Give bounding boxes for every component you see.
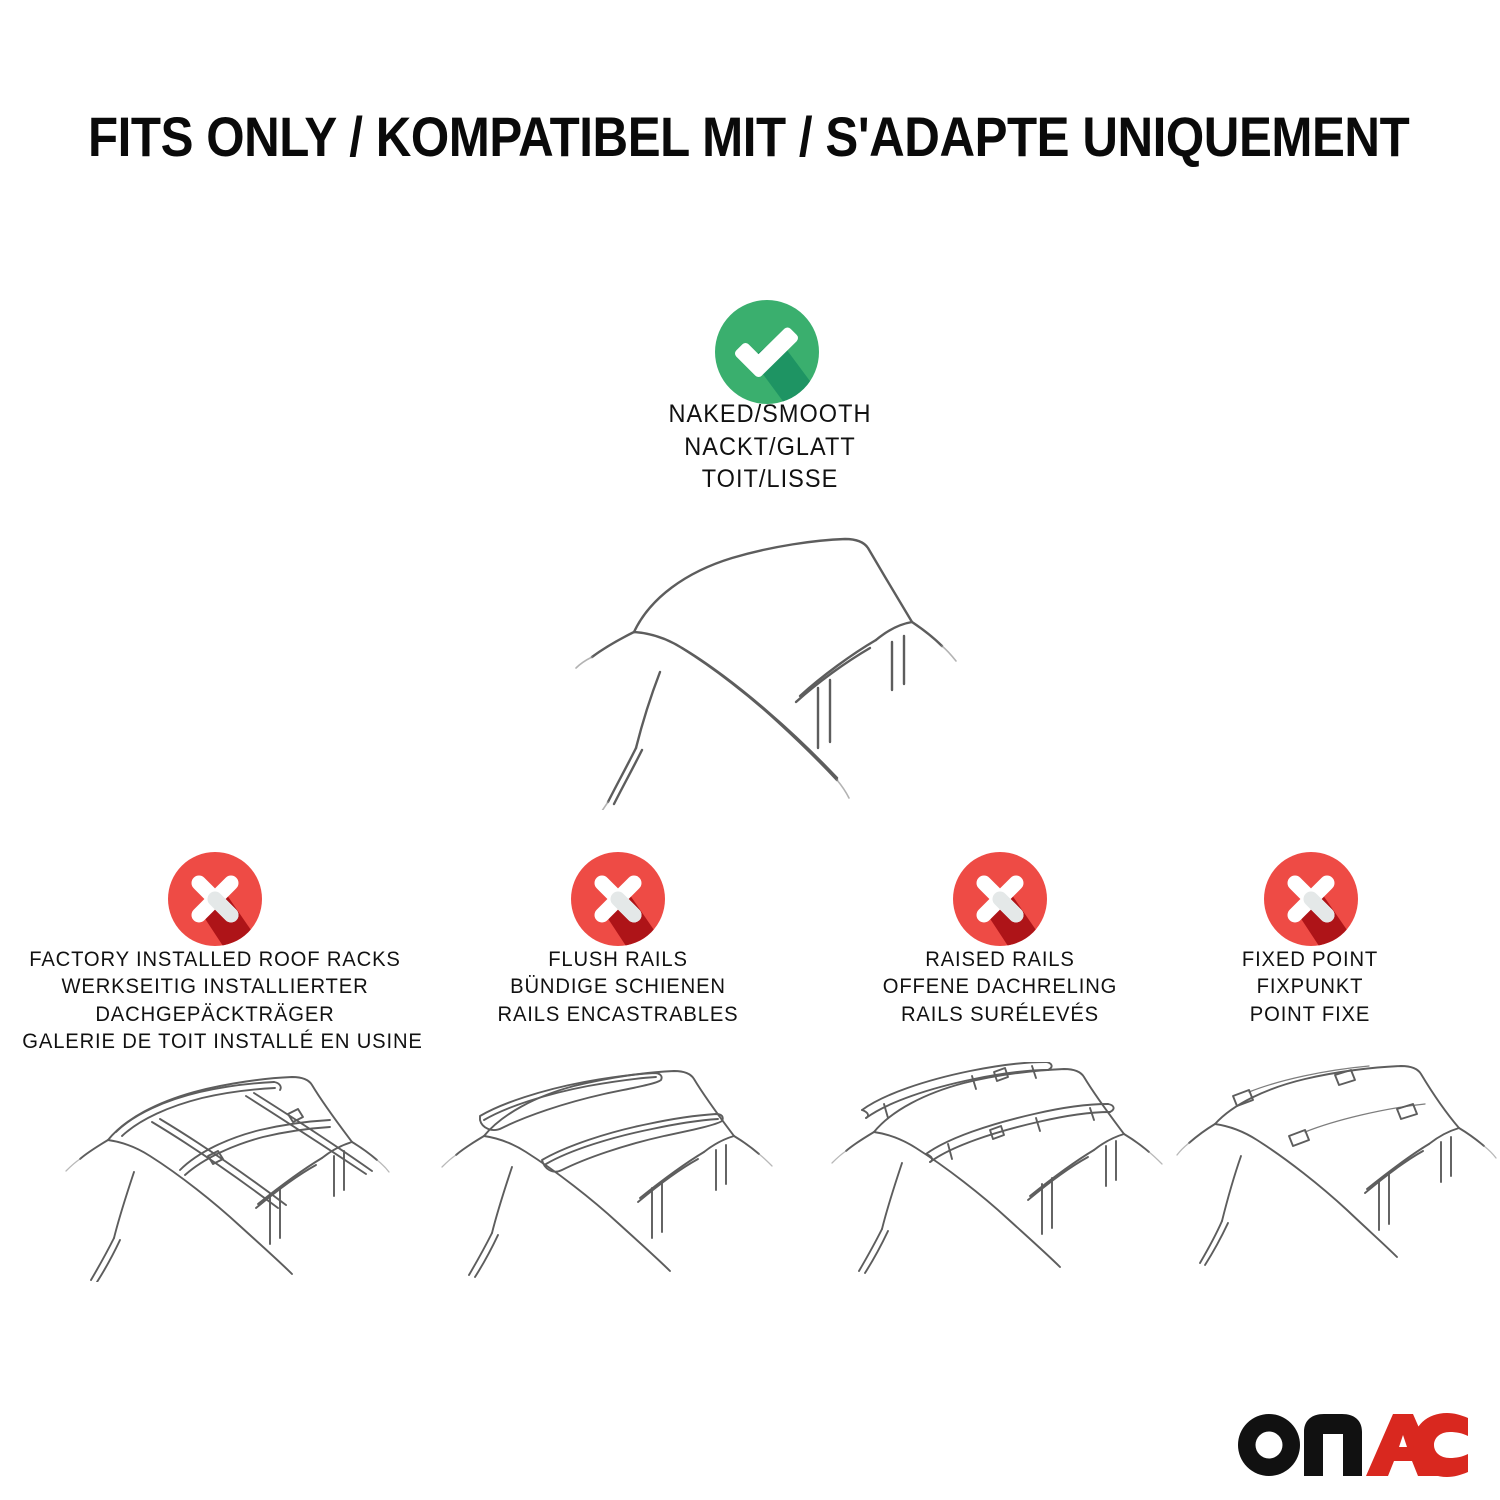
x-circle-icon xyxy=(1264,852,1358,946)
caption-line: FIXPUNKT xyxy=(1174,973,1447,1000)
omac-logo xyxy=(1238,1412,1468,1478)
logo-letter-m xyxy=(1304,1414,1362,1476)
x-circle-icon xyxy=(168,852,262,946)
caption-line: FACTORY INSTALLED ROOF RACKS xyxy=(22,946,407,973)
caption-line: TOIT/LISSE xyxy=(582,463,958,496)
car-roof-naked-smooth-illustration xyxy=(500,520,1020,810)
caption-line: RAILS ENCASTRABLES xyxy=(458,1001,778,1028)
caption-line: POINT FIXE xyxy=(1174,1001,1447,1028)
x-circle-icon xyxy=(571,852,665,946)
caption-line: FIXED POINT xyxy=(1174,946,1447,973)
caption-line: DACHGEPÄCKTRÄGER xyxy=(22,1001,407,1028)
car-roof-flush-rails-illustration xyxy=(432,1062,822,1282)
incompatible-caption-flush-rails: FLUSH RAILS BÜNDIGE SCHIENEN RAILS ENCAS… xyxy=(458,946,778,1028)
check-circle-icon xyxy=(715,300,827,404)
car-roof-factory-roof-racks-illustration xyxy=(30,1062,430,1282)
logo-letter-o xyxy=(1238,1414,1300,1476)
page-title: FITS ONLY / KOMPATIBEL MIT / S'ADAPTE UN… xyxy=(88,108,1258,167)
caption-line: RAILS SURÉLEVÉS xyxy=(838,1001,1161,1028)
caption-line: BÜNDIGE SCHIENEN xyxy=(458,973,778,1000)
caption-line: FLUSH RAILS xyxy=(458,946,778,973)
caption-line: OFFENE DACHRELING xyxy=(838,973,1161,1000)
caption-line: WERKSEITIG INSTALLIERTER xyxy=(22,973,407,1000)
fitment-chart-page: FITS ONLY / KOMPATIBEL MIT / S'ADAPTE UN… xyxy=(0,0,1500,1500)
caption-line: RAISED RAILS xyxy=(838,946,1161,973)
car-roof-raised-rails-illustration xyxy=(822,1062,1212,1282)
car-roof-fixed-point-illustration xyxy=(1175,1062,1500,1282)
incompatible-caption-fixed-point: FIXED POINT FIXPUNKT POINT FIXE xyxy=(1174,946,1447,1028)
x-circle-icon xyxy=(953,852,1047,946)
compatible-caption: NAKED/SMOOTH NACKT/GLATT TOIT/LISSE xyxy=(582,398,958,496)
caption-line: NAKED/SMOOTH xyxy=(582,398,958,431)
caption-line: GALERIE DE TOIT INSTALLÉ EN USINE xyxy=(22,1028,407,1055)
caption-line: NACKT/GLATT xyxy=(582,431,958,464)
incompatible-caption-raised-rails: RAISED RAILS OFFENE DACHRELING RAILS SUR… xyxy=(838,946,1161,1028)
incompatible-caption-factory-roof-racks: FACTORY INSTALLED ROOF RACKS WERKSEITIG … xyxy=(22,946,407,1055)
